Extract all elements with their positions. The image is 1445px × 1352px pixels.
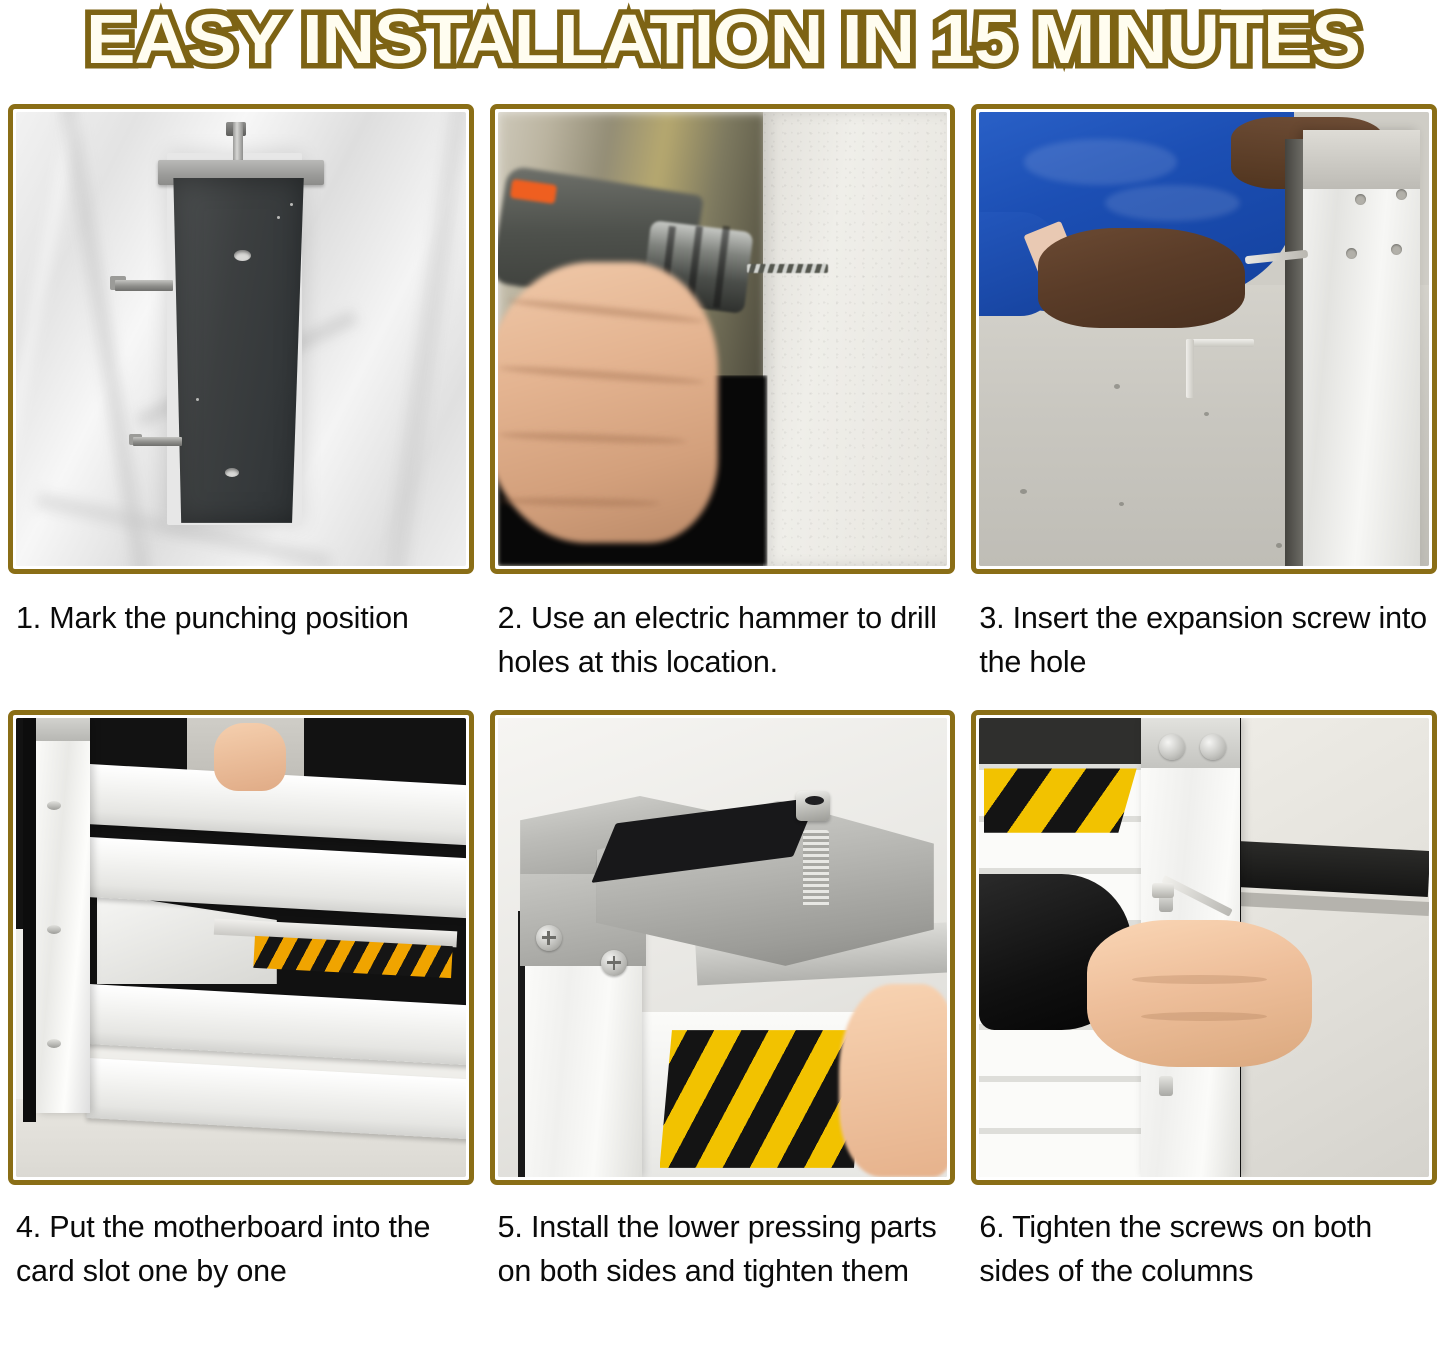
page-title: EASY INSTALLATION IN 15 MINUTES: [85, 2, 1359, 76]
pressing-part-photo: [498, 718, 948, 1177]
insert-boards-photo: [16, 718, 466, 1177]
step-card-3: 3. Insert the expansion screw into the h…: [971, 104, 1437, 684]
drilling-wall-photo: [498, 112, 948, 566]
step-card-1: 1. Mark the punching position: [8, 104, 474, 684]
step-2-photo-frame: [490, 104, 956, 574]
step-card-4: 4. Put the motherboard into the card slo…: [8, 710, 474, 1293]
step-2-caption: 2. Use an electric hammer to drill holes…: [490, 574, 956, 684]
header-banner: EASY INSTALLATION IN 15 MINUTES: [0, 0, 1445, 104]
step-card-2: 2. Use an electric hammer to drill holes…: [490, 104, 956, 684]
tighten-screws-photo: [979, 718, 1429, 1177]
marking-template-photo: [16, 112, 466, 566]
step-5-caption: 5. Install the lower pressing parts on b…: [490, 1185, 956, 1293]
steps-grid-row-1: 1. Mark the punching position 2. Use an …: [0, 104, 1445, 684]
step-5-photo-frame: [490, 710, 956, 1185]
expansion-screw-photo: [979, 112, 1429, 566]
step-6-caption: 6. Tighten the screws on both sides of t…: [971, 1185, 1437, 1293]
step-4-caption: 4. Put the motherboard into the card slo…: [8, 1185, 474, 1293]
step-1-photo-frame: [8, 104, 474, 574]
step-6-photo-frame: [971, 710, 1437, 1185]
step-3-caption: 3. Insert the expansion screw into the h…: [971, 574, 1437, 684]
step-card-5: 5. Install the lower pressing parts on b…: [490, 710, 956, 1293]
steps-grid-row-2: 4. Put the motherboard into the card slo…: [0, 710, 1445, 1293]
step-3-photo-frame: [971, 104, 1437, 574]
step-1-caption: 1. Mark the punching position: [8, 574, 474, 640]
step-card-6: 6. Tighten the screws on both sides of t…: [971, 710, 1437, 1293]
row-spacer: [0, 684, 1445, 710]
step-4-photo-frame: [8, 710, 474, 1185]
